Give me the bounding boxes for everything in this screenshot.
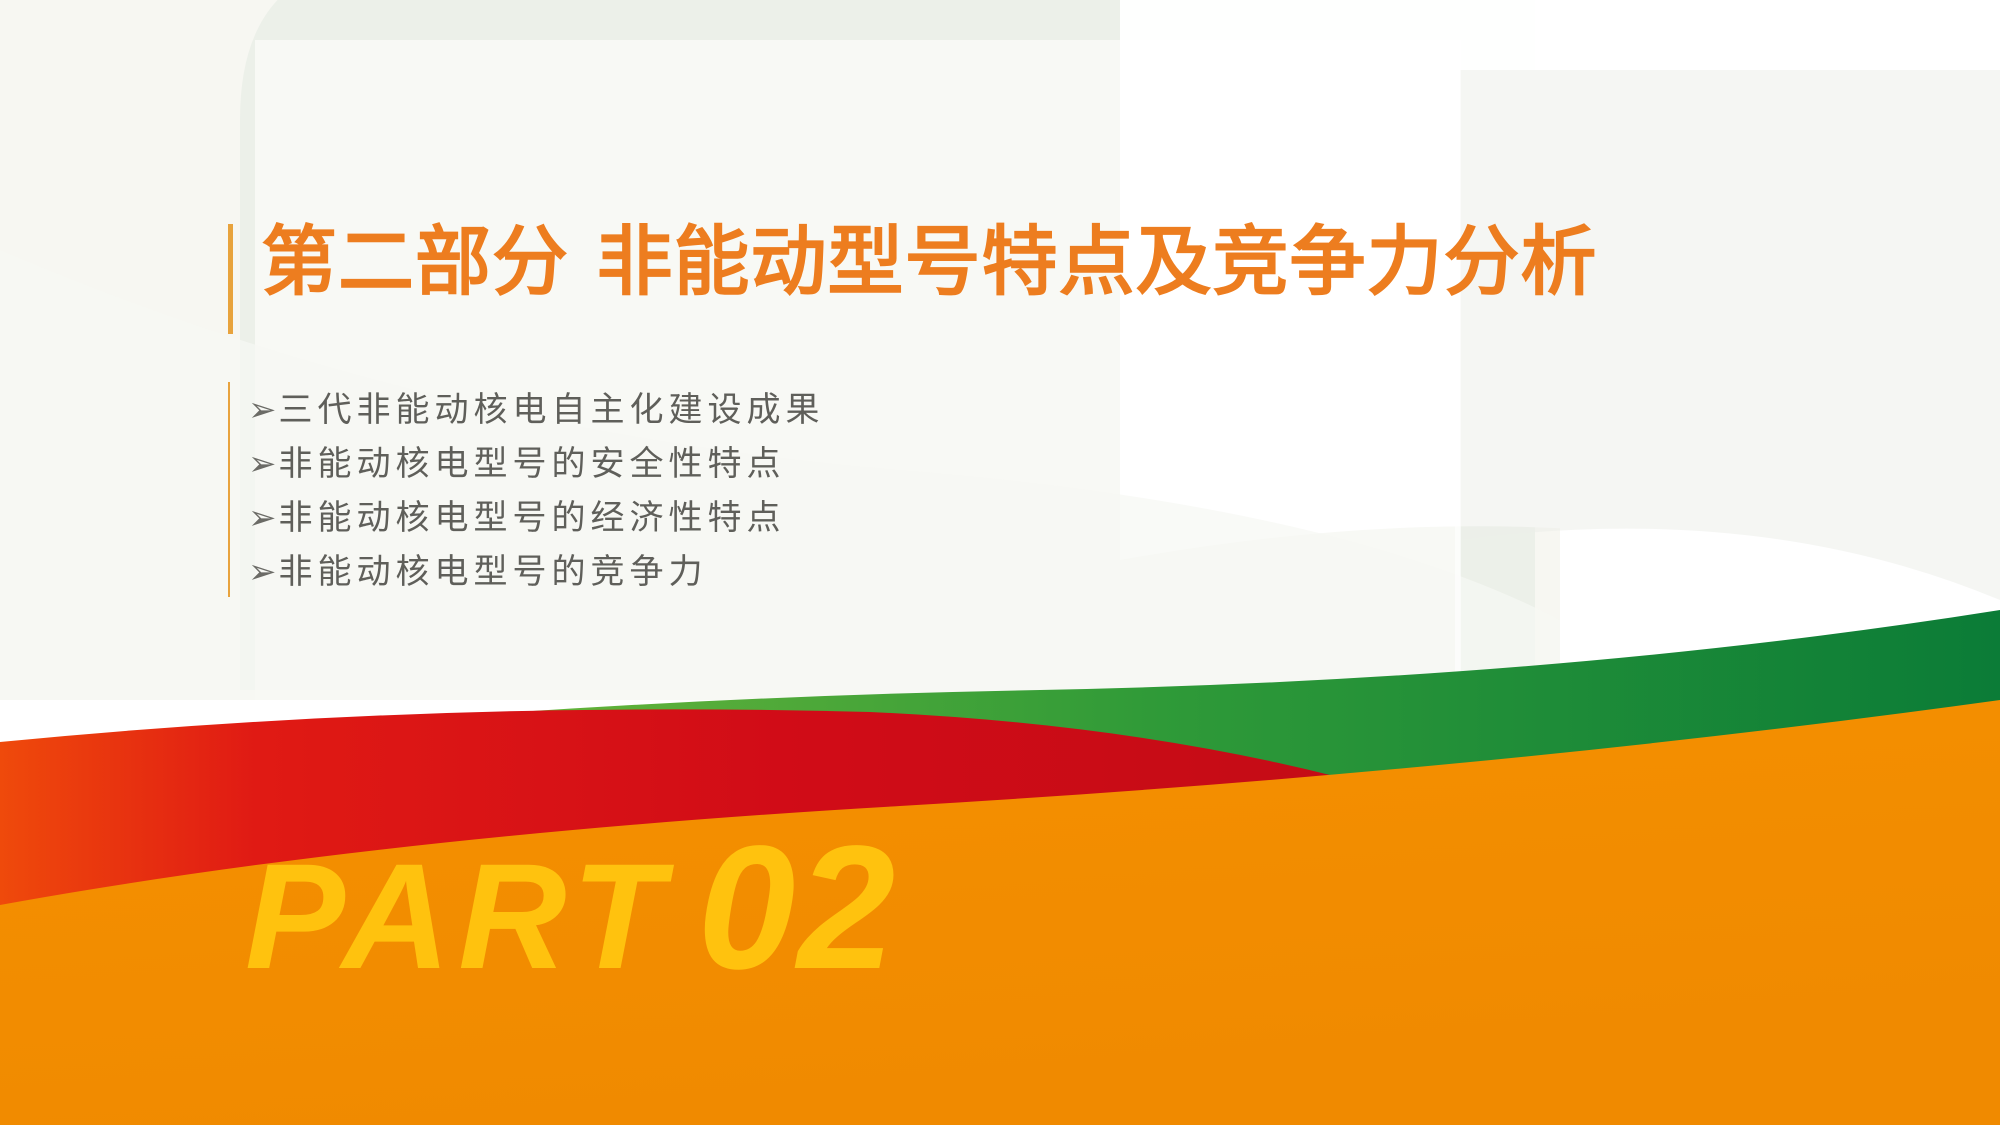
section-title-block: 第二部分 非能动型号特点及竞争力分析	[228, 222, 1597, 334]
list-item[interactable]: ➢ 三代非能动核电自主化建设成果	[248, 382, 825, 436]
part-banner: PART02	[245, 820, 897, 996]
arrow-bullet-icon: ➢	[248, 393, 277, 427]
list-item-label: 非能动核电型号的经济性特点	[279, 490, 786, 539]
arrow-bullet-icon: ➢	[248, 555, 277, 589]
list-item-label: 非能动核电型号的竞争力	[279, 544, 708, 593]
part-word-label: PART	[245, 832, 671, 1000]
agenda-list: ➢ 三代非能动核电自主化建设成果 ➢ 非能动核电型号的安全性特点 ➢ 非能动核电…	[228, 382, 825, 597]
list-item-label: 三代非能动核电自主化建设成果	[279, 382, 825, 431]
list-item[interactable]: ➢ 非能动核电型号的竞争力	[248, 544, 825, 598]
list-item[interactable]: ➢ 非能动核电型号的安全性特点	[248, 436, 825, 490]
list-item-label: 非能动核电型号的安全性特点	[279, 436, 786, 485]
list-item[interactable]: ➢ 非能动核电型号的经济性特点	[248, 490, 825, 544]
arrow-bullet-icon: ➢	[248, 447, 277, 481]
part-number-label: 02	[697, 810, 897, 1006]
page-title: 第二部分 非能动型号特点及竞争力分析	[261, 222, 1597, 302]
title-accent-rule	[228, 224, 233, 334]
slide-canvas: 第二部分 非能动型号特点及竞争力分析 ➢ 三代非能动核电自主化建设成果 ➢ 非能…	[0, 0, 2000, 1125]
arrow-bullet-icon: ➢	[248, 501, 277, 535]
